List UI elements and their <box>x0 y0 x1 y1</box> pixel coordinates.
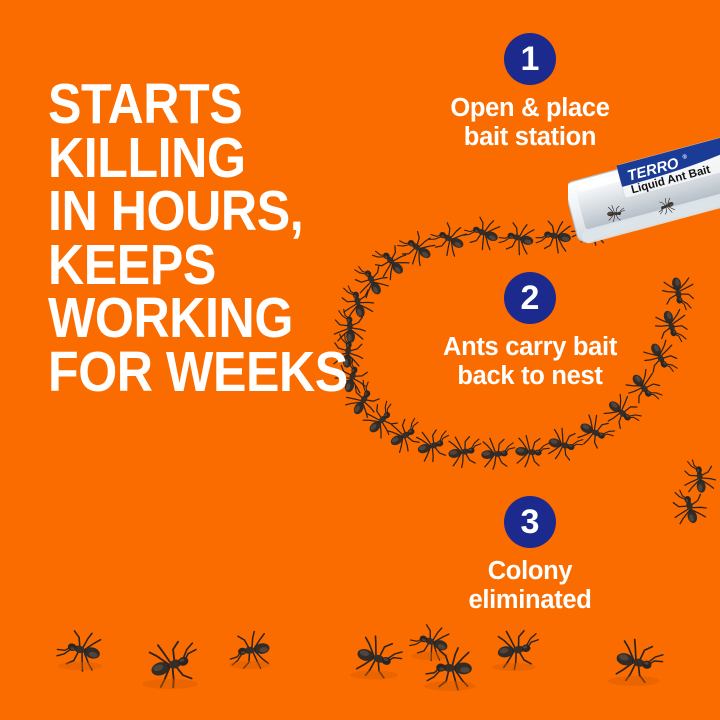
step-2-line-2: back to nest <box>380 362 680 391</box>
dead-ant <box>227 630 272 672</box>
step-1-line-1: Open & place <box>380 94 680 123</box>
dead-ant <box>492 626 543 671</box>
headline-line-6: FOR WEEKS <box>48 346 347 400</box>
dead-ant <box>142 634 205 692</box>
dead-ants-row <box>0 610 720 720</box>
headline-line-1: STARTS <box>48 78 347 132</box>
step-1-text: Open & place bait station <box>380 94 680 152</box>
step-1-line-2: bait station <box>380 123 680 152</box>
step-1-number-badge: 1 <box>504 33 556 85</box>
dead-ant <box>350 633 405 684</box>
step-2-number-badge: 2 <box>504 272 556 324</box>
step-3: 3 Colony eliminated <box>380 496 680 615</box>
step-3-number-badge: 3 <box>504 496 556 548</box>
step-2: 2 Ants carry bait back to nest <box>380 272 680 391</box>
step-2-text: Ants carry bait back to nest <box>380 333 680 391</box>
headline-line-4: KEEPS <box>48 239 347 293</box>
dead-ant <box>54 625 105 674</box>
dead-ant <box>608 636 666 688</box>
step-1: 1 Open & place bait station <box>380 33 680 152</box>
headline: STARTS KILLING IN HOURS, KEEPS WORKING F… <box>48 78 347 399</box>
poster-canvas: STARTS KILLING IN HOURS, KEEPS WORKING F… <box>0 0 720 720</box>
headline-line-3: IN HOURS, <box>48 185 347 239</box>
headline-line-5: WORKING <box>48 292 347 346</box>
step-3-text: Colony eliminated <box>380 557 680 615</box>
headline-line-2: KILLING <box>48 132 347 186</box>
step-3-line-1: Colony <box>380 557 680 586</box>
step-2-line-1: Ants carry bait <box>380 333 680 362</box>
